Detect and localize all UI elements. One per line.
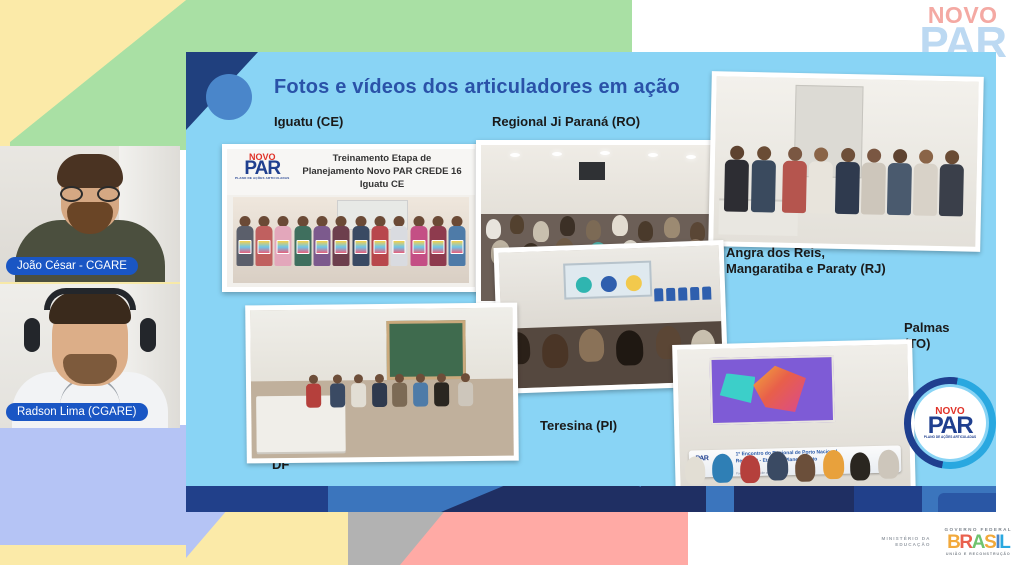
teresina-hall-wall bbox=[499, 245, 722, 332]
teresina-projection-screen bbox=[563, 260, 652, 299]
ring-label: NOVO PAR PLANO DE AÇÕES ARTICULADAS bbox=[904, 377, 996, 469]
glasses-icon bbox=[60, 186, 120, 202]
band-block-8 bbox=[938, 493, 996, 512]
photo-iguatu-content: NOVO PAR PLANO DE AÇÕES ARTICULADAS Trei… bbox=[227, 149, 475, 287]
background-yellow-bottom-strip bbox=[0, 545, 186, 565]
teresina-chairs bbox=[654, 287, 711, 302]
footer-logos: MINISTÉRIO DA EDUCAÇÃO GOVERNO FEDERAL B… bbox=[882, 527, 1012, 557]
brasil-letter-l: L bbox=[999, 534, 1009, 551]
band-block-4 bbox=[706, 486, 734, 512]
iguatu-banner: NOVO PAR PLANO DE AÇÕES ARTICULADAS Trei… bbox=[227, 149, 475, 195]
iguatu-people-row bbox=[235, 216, 466, 278]
df-chalkboard bbox=[387, 320, 466, 380]
presentation-slide[interactable]: Fotos e vídeos dos articuladores em ação… bbox=[186, 52, 996, 512]
participant-name-badge-joao: João César - CGARE bbox=[6, 257, 138, 275]
novo-par-circular-logo: NOVO PAR PLANO DE AÇÕES ARTICULADAS bbox=[904, 377, 996, 469]
palmas-presentation-screen bbox=[710, 355, 836, 425]
ministry-of-education-logo: MINISTÉRIO DA EDUCAÇÃO bbox=[882, 536, 931, 547]
band-block-6 bbox=[854, 486, 922, 512]
video-tile-joao-cesar[interactable]: João César - CGARE bbox=[0, 146, 180, 282]
palmas-brazil-map-graphic bbox=[753, 365, 807, 413]
brasil-letter-b: B bbox=[947, 534, 959, 551]
caption-teresina: Teresina (PI) bbox=[540, 418, 617, 434]
ji-parana-screen bbox=[579, 162, 605, 181]
photo-angra-content bbox=[713, 76, 978, 246]
photo-palmas[interactable]: PAR 1º Encontro do Regional de Porto Nac… bbox=[672, 339, 916, 501]
brasil-letter-r: R bbox=[959, 534, 971, 551]
photo-df[interactable] bbox=[245, 303, 519, 464]
slide-bottom-band bbox=[186, 486, 996, 512]
governo-federal-logo: GOVERNO FEDERAL B R A S I L UNIÃO E RECO… bbox=[945, 527, 1012, 557]
gov-tagline: UNIÃO E RECONSTRUÇÃO bbox=[945, 553, 1012, 557]
ring-par-text: PAR bbox=[928, 416, 972, 435]
photo-df-content bbox=[250, 308, 514, 459]
caption-iguatu: Iguatu (CE) bbox=[274, 114, 343, 130]
headphones-icon bbox=[44, 288, 136, 310]
iguatu-logo-sub: PLANO DE AÇÕES ARTICULADAS bbox=[235, 177, 289, 179]
slide-title: Fotos e vídeos dos articuladores em ação bbox=[274, 76, 680, 99]
ring-sub-text: PLANO DE AÇÕES ARTICULADAS bbox=[924, 436, 976, 439]
caption-angra: Angra dos Reis, Mangaratiba e Paraty (RJ… bbox=[726, 245, 886, 277]
ministry-line-2: EDUCAÇÃO bbox=[882, 542, 931, 548]
photo-iguatu[interactable]: NOVO PAR PLANO DE AÇÕES ARTICULADAS Trei… bbox=[222, 144, 480, 292]
palmas-screen-shape-left bbox=[719, 373, 756, 404]
screen-root: NOVO PAR Fotos e vídeos dos articuladore… bbox=[0, 0, 1024, 565]
tile1-hair bbox=[57, 154, 123, 188]
brasil-letter-a: A bbox=[972, 534, 984, 551]
brasil-wordmark: B R A S I L bbox=[945, 534, 1012, 551]
iguatu-logo-par: PAR bbox=[235, 161, 289, 177]
brasil-letter-s: S bbox=[984, 534, 995, 551]
headphone-earcup-right-icon bbox=[140, 318, 156, 352]
photo-angra-dos-reis[interactable] bbox=[708, 71, 984, 252]
band-block-5 bbox=[734, 486, 854, 512]
iguatu-novo-par-logo: NOVO PAR PLANO DE AÇÕES ARTICULADAS bbox=[235, 154, 289, 179]
iguatu-group-photo bbox=[233, 197, 469, 283]
photo-palmas-content: PAR 1º Encontro do Regional de Porto Nac… bbox=[677, 344, 910, 496]
caption-ji-parana: Regional Ji Paraná (RO) bbox=[492, 114, 640, 130]
band-block-1 bbox=[186, 486, 328, 512]
slide-decorative-circle bbox=[206, 74, 252, 120]
headphone-earcup-left-icon bbox=[24, 318, 40, 352]
iguatu-banner-text: Treinamento Etapa de Planejamento Novo P… bbox=[293, 153, 471, 191]
video-tile-radson-lima[interactable]: Radson Lima (CGARE) bbox=[0, 284, 180, 428]
participant-name-badge-radson: Radson Lima (CGARE) bbox=[6, 403, 148, 421]
